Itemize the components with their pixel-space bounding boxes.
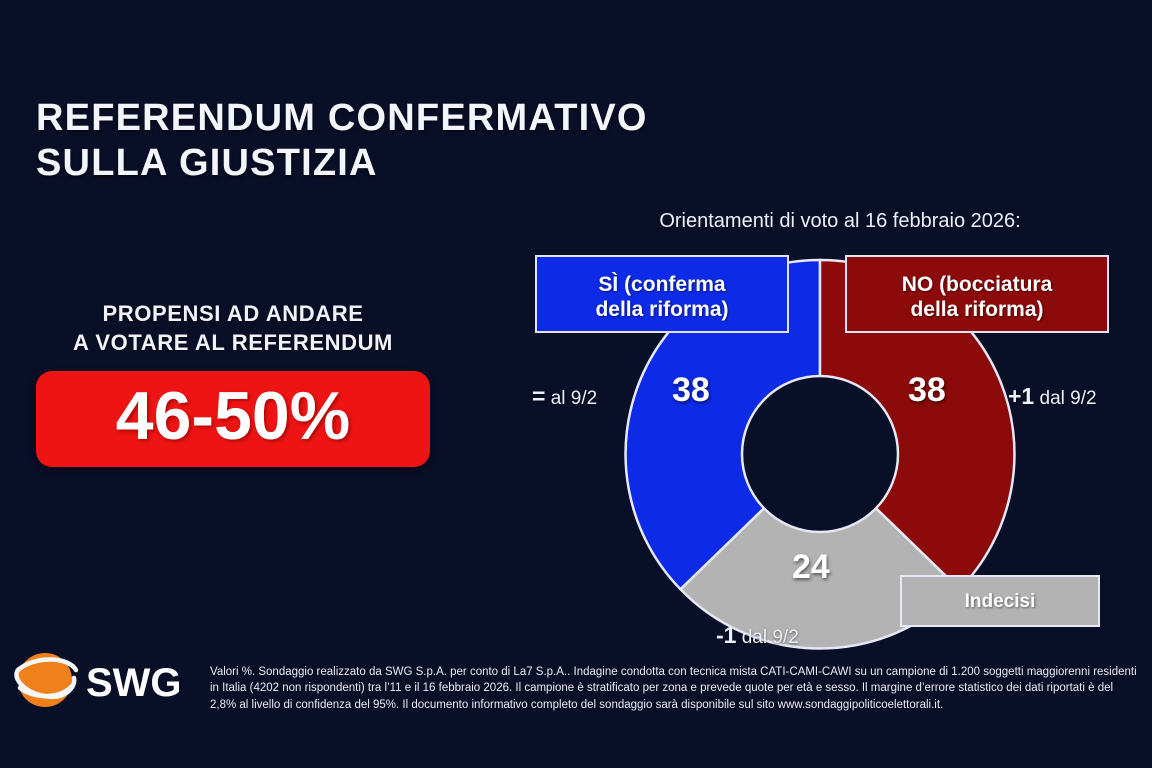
- title-line-2: SULLA GIUSTIZIA: [36, 141, 648, 186]
- legend-box-si-line-1: SÌ (conferma: [537, 272, 787, 297]
- donut-value-indecisi: 24: [792, 548, 830, 587]
- donut-value-no: 38: [908, 371, 946, 410]
- page-title: REFERENDUM CONFERMATIVO SULLA GIUSTIZIA: [36, 96, 648, 186]
- donut-hole: [742, 376, 898, 532]
- delta-si-rest: al 9/2: [551, 388, 597, 409]
- legend-box-indecisi-label: Indecisi: [902, 591, 1098, 614]
- swg-logo: SWG: [10, 648, 200, 712]
- delta-indecisi-sign: -1: [716, 622, 736, 648]
- legend-box-si[interactable]: SÌ (conferma della riforma): [535, 255, 789, 333]
- delta-si-sign: =: [532, 383, 545, 409]
- turnout-value-box: 46-50%: [36, 371, 430, 466]
- delta-indecisi-rest: dal 9/2: [742, 627, 799, 648]
- turnout-value: 46-50%: [36, 381, 430, 452]
- legend-box-no-line-1: NO (bocciatura: [847, 272, 1107, 297]
- chart-title: Orientamenti di voto al 16 febbraio 2026…: [560, 210, 1120, 233]
- swg-logo-svg: SWG: [10, 648, 200, 712]
- donut-value-si: 38: [672, 371, 710, 410]
- delta-no-rest: dal 9/2: [1040, 388, 1097, 409]
- globe-icon: [16, 653, 76, 707]
- turnout-caption-line-1: PROPENSI AD ANDARE: [36, 300, 430, 329]
- turnout-stat-block: PROPENSI AD ANDARE A VOTARE AL REFERENDU…: [36, 300, 430, 467]
- legend-box-no[interactable]: NO (bocciatura della riforma): [845, 255, 1109, 333]
- legend-box-indecisi[interactable]: Indecisi: [900, 575, 1100, 627]
- legend-box-no-line-2: della riforma): [847, 297, 1107, 322]
- delta-indecisi: -1 dal 9/2: [716, 622, 799, 649]
- delta-no-sign: +1: [1008, 383, 1034, 409]
- title-line-1: REFERENDUM CONFERMATIVO: [36, 97, 648, 139]
- delta-si: = al 9/2: [532, 383, 597, 410]
- legend-box-si-line-2: della riforma): [537, 297, 787, 322]
- footnote: Valori %. Sondaggio realizzato da SWG S.…: [210, 664, 1138, 713]
- infographic-slide: REFERENDUM CONFERMATIVO SULLA GIUSTIZIA …: [0, 0, 1152, 768]
- delta-no: +1 dal 9/2: [1008, 383, 1097, 410]
- turnout-caption-line-2: A VOTARE AL REFERENDUM: [36, 329, 430, 358]
- swg-logo-text: SWG: [86, 661, 182, 705]
- turnout-caption: PROPENSI AD ANDARE A VOTARE AL REFERENDU…: [36, 300, 430, 357]
